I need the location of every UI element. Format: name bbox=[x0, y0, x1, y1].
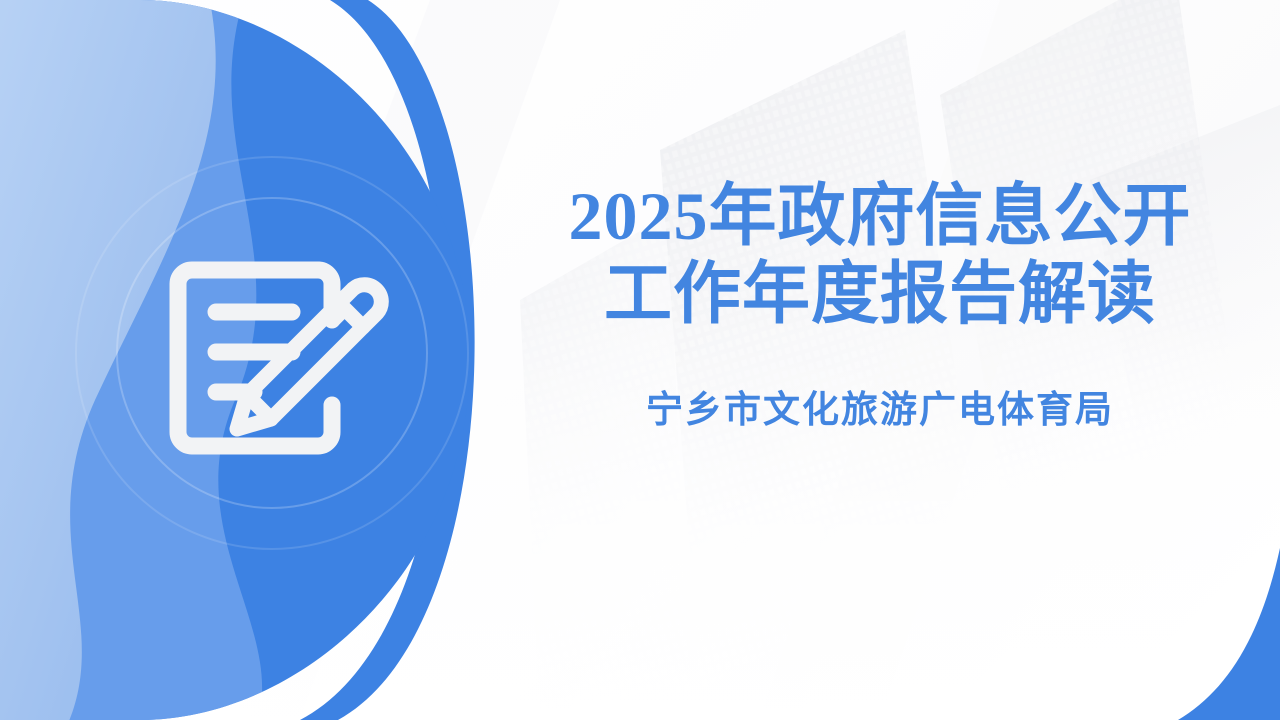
page-title: 2025年政府信息公开工作年度报告解读 bbox=[500, 178, 1260, 333]
title-line-1: 2025年政府信息公开 bbox=[568, 178, 1191, 254]
title-line-2: 工作年度报告解读 bbox=[604, 256, 1156, 332]
subtitle: 宁乡市文化旅游广电体育局 bbox=[500, 333, 1260, 433]
title-slide: 2025年政府信息公开工作年度报告解读 宁乡市文化旅游广电体育局 bbox=[0, 0, 1280, 720]
title-text-group: 2025年政府信息公开工作年度报告解读 宁乡市文化旅游广电体育局 bbox=[500, 178, 1260, 433]
document-edit-icon bbox=[120, 200, 420, 500]
bottom-right-blue-arc bbox=[1178, 548, 1280, 720]
pencil-band bbox=[335, 310, 346, 321]
